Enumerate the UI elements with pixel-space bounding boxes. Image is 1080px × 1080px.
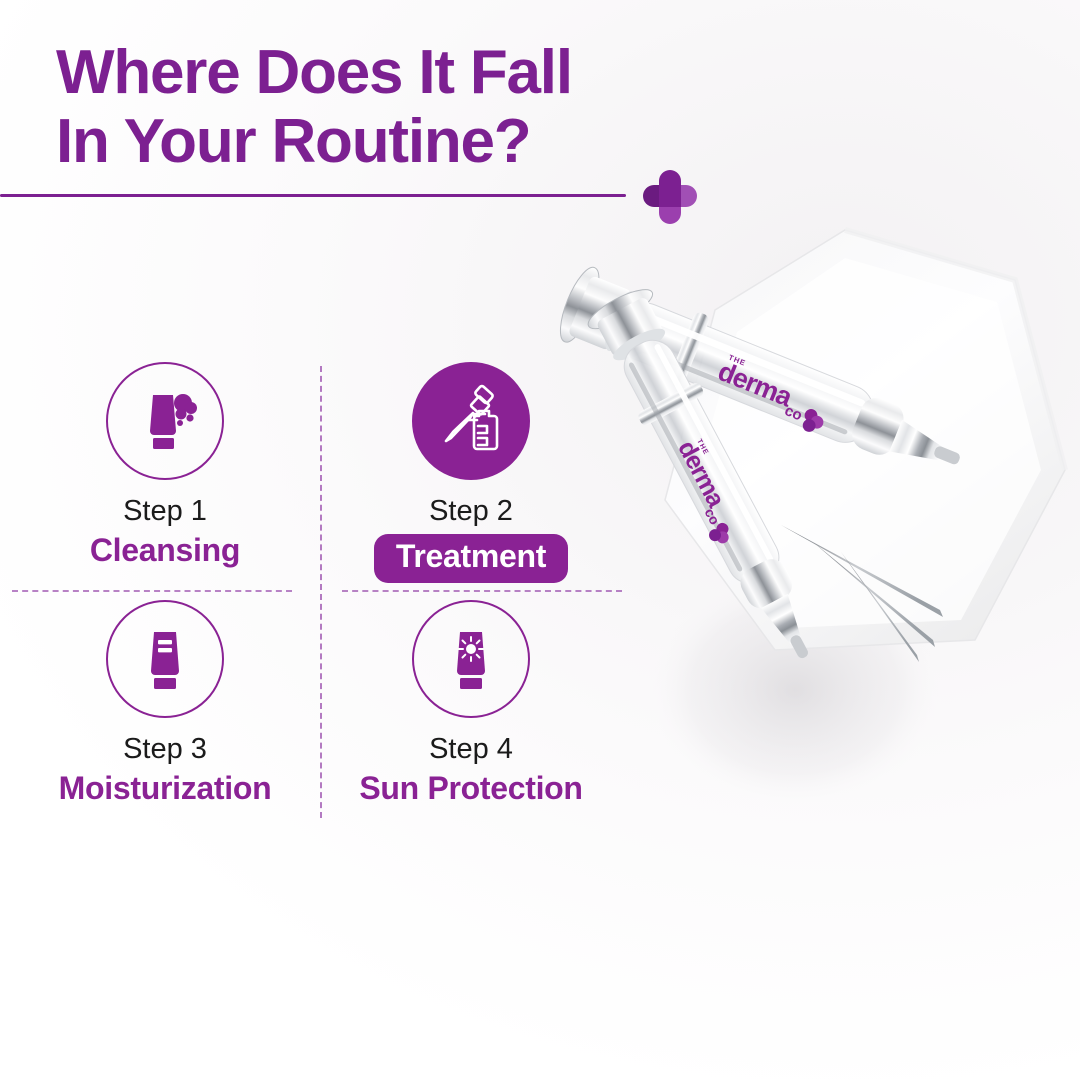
infographic-canvas: THE derma co (0, 0, 1080, 1080)
product-photo: THE derma co (545, 170, 1080, 890)
step-3-icon-circle (106, 600, 224, 718)
step-2-icon-circle (412, 362, 530, 480)
sunscreen-tube-sun-icon (435, 623, 507, 695)
step-1-name: Cleansing (12, 532, 318, 570)
cleanser-tube-foam-icon (129, 385, 201, 457)
step-1-number: Step 1 (12, 496, 318, 528)
step-4-icon-circle (412, 600, 530, 718)
page-title: Where Does It Fall In Your Routine? (56, 38, 696, 177)
horizontal-dashed-divider-right (342, 590, 622, 592)
step-3-number: Step 3 (12, 734, 318, 766)
step-card-4[interactable]: Step 4 Sun Protection (318, 600, 624, 808)
step-3-name: Moisturization (12, 770, 318, 808)
horizontal-dashed-divider-left (12, 590, 292, 592)
title-line-2: In Your Routine? (56, 107, 696, 176)
step-card-1[interactable]: Step 1 Cleansing (12, 362, 318, 570)
moisturizer-tube-icon (129, 623, 201, 695)
dropper-serum-bottle-icon (433, 383, 509, 459)
step-4-name: Sun Protection (318, 770, 624, 808)
routine-steps-grid: Step 1 Cleansing (12, 362, 624, 824)
step-card-3[interactable]: Step 3 Moisturization (12, 600, 318, 808)
title-line-1: Where Does It Fall (56, 38, 696, 107)
step-2-number: Step 2 (318, 496, 624, 528)
title-divider-rule (0, 194, 626, 197)
step-2-name-highlight: Treatment (374, 534, 568, 583)
step-1-icon-circle (106, 362, 224, 480)
step-4-number: Step 4 (318, 734, 624, 766)
derma-co-petal-mark-icon (641, 168, 699, 226)
step-card-2[interactable]: Step 2 Treatment (318, 362, 624, 583)
